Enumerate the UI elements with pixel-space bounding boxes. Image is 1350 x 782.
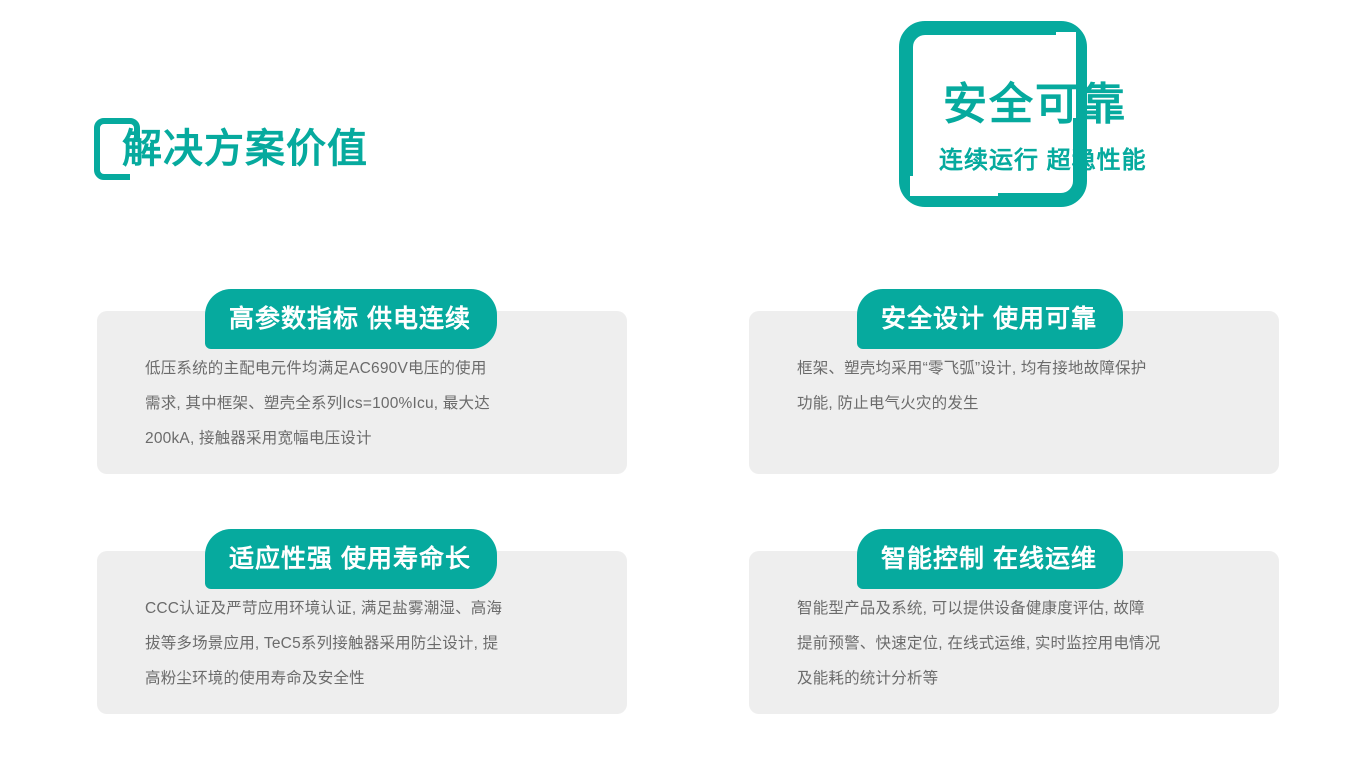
card-title: 高参数指标 供电连续	[229, 304, 471, 334]
card-body: 框架、塑壳均采用“零飞弧”设计, 均有接地故障保护 功能, 防止电气火灾的发生	[797, 351, 1227, 421]
hero-badge: 安全可靠 连续运行 超稳性能	[899, 21, 1087, 207]
badge-frame-gap-bottom	[910, 176, 998, 196]
card-header-pill: 高参数指标 供电连续	[205, 289, 497, 349]
card-header-pill: 安全设计 使用可靠	[857, 289, 1123, 349]
page-title: 解决方案价值	[122, 120, 368, 178]
card-body-line: 提前预警、快速定位, 在线式运维, 实时监控用电情况	[797, 626, 1227, 661]
badge-subheadline: 连续运行 超稳性能	[939, 146, 1147, 176]
card-header-pill: 适应性强 使用寿命长	[205, 529, 497, 589]
card-body: 低压系统的主配电元件均满足AC690V电压的使用 需求, 其中框架、塑壳全系列I…	[145, 351, 575, 456]
card-body: CCC认证及严苛应用环境认证, 满足盐雾潮湿、高海 拔等多场景应用, TeC5系…	[145, 591, 575, 696]
card-header-pill: 智能控制 在线运维	[857, 529, 1123, 589]
card-body-line: 200kA, 接触器采用宽幅电压设计	[145, 421, 575, 456]
card-body-line: 智能型产品及系统, 可以提供设备健康度评估, 故障	[797, 591, 1227, 626]
card-body-line: 拔等多场景应用, TeC5系列接触器采用防尘设计, 提	[145, 626, 575, 661]
card-title: 智能控制 在线运维	[881, 544, 1097, 574]
page-root: 解决方案价值 安全可靠 连续运行 超稳性能 高参数指标 供电连续 低压系统的主配…	[0, 0, 1350, 782]
badge-headline: 安全可靠	[943, 79, 1127, 131]
card-body-line: 高粉尘环境的使用寿命及安全性	[145, 661, 575, 696]
card-body-line: 需求, 其中框架、塑壳全系列Ics=100%Icu, 最大达	[145, 386, 575, 421]
card-body-line: 及能耗的统计分析等	[797, 661, 1227, 696]
card-title: 适应性强 使用寿命长	[229, 544, 471, 574]
card-body: 智能型产品及系统, 可以提供设备健康度评估, 故障 提前预警、快速定位, 在线式…	[797, 591, 1227, 696]
card-title: 安全设计 使用可靠	[881, 304, 1097, 334]
card-body-line: CCC认证及严苛应用环境认证, 满足盐雾潮湿、高海	[145, 591, 575, 626]
card-body-line: 框架、塑壳均采用“零飞弧”设计, 均有接地故障保护	[797, 351, 1227, 386]
card-body-line: 功能, 防止电气火灾的发生	[797, 386, 1227, 421]
card-body-line: 低压系统的主配电元件均满足AC690V电压的使用	[145, 351, 575, 386]
